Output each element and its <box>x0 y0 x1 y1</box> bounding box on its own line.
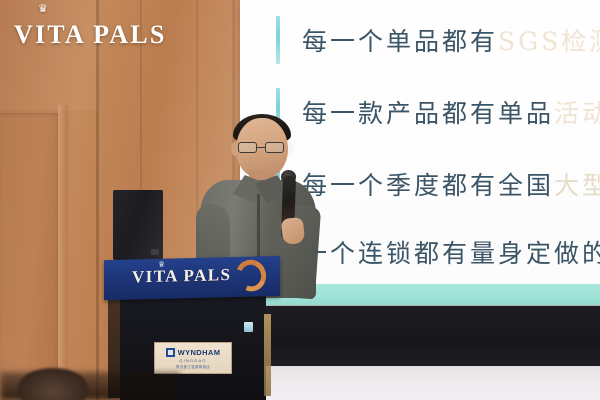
slide-line-1-text: 每一个单品都有 <box>302 22 498 58</box>
presentation-photo: 每一个单品都有 SGS检测报告 每一款产品都有单品 活动 每一个季度都有全国 大… <box>0 0 600 400</box>
slide-line-2-text: 每一款产品都有单品 <box>302 94 554 130</box>
slide-line-4-text: 一个连锁都有量身定做的 <box>302 234 600 270</box>
podium-gold-trim <box>264 314 271 396</box>
venue-plaque-row: WYNDHAM <box>166 348 221 357</box>
glasses-bridge <box>257 147 265 148</box>
glasses-lens-right <box>265 142 284 153</box>
wyndham-square-icon <box>166 348 175 357</box>
pa-speaker-cabinet <box>113 190 163 260</box>
venue-subtitle: 青岛鑫江温德姆酒店 <box>176 364 210 369</box>
slide-line-3-text: 每一个季度都有全国 <box>302 166 554 202</box>
slide-line-1-highlight: SGS检测报告 <box>498 22 600 58</box>
watermark-logo: VITA PALS <box>14 22 166 48</box>
slide-line-3-highlight: 大型 <box>554 166 600 202</box>
door-frame <box>58 105 68 400</box>
podium-reading-light <box>244 322 253 332</box>
crescent-arc-icon <box>231 256 271 296</box>
accent-bar-icon <box>276 16 280 64</box>
wall-panel-upper <box>0 0 98 110</box>
podium-brand-text: VITA PALS <box>132 265 231 287</box>
glasses-lens-left <box>238 142 257 153</box>
speaker-grille-icon <box>151 249 159 255</box>
podium-brand-panel: ♛ VITA PALS <box>104 256 280 300</box>
crown-icon: ♛ <box>38 4 48 15</box>
stage-floor <box>236 366 600 400</box>
stage-front-dark-band <box>236 306 600 368</box>
venue-plaque: WYNDHAM QINGDAO 青岛鑫江温德姆酒店 <box>154 342 232 374</box>
audience-member-head <box>18 368 88 400</box>
venue-brand: WYNDHAM <box>178 348 221 357</box>
slide-line-2-highlight: 活动 <box>554 94 600 130</box>
recessed-doorway <box>0 113 62 400</box>
slide-line-1: 每一个单品都有 SGS检测报告 <box>276 16 600 64</box>
glasses-icon <box>238 142 288 154</box>
venue-city: QINGDAO <box>179 358 206 363</box>
